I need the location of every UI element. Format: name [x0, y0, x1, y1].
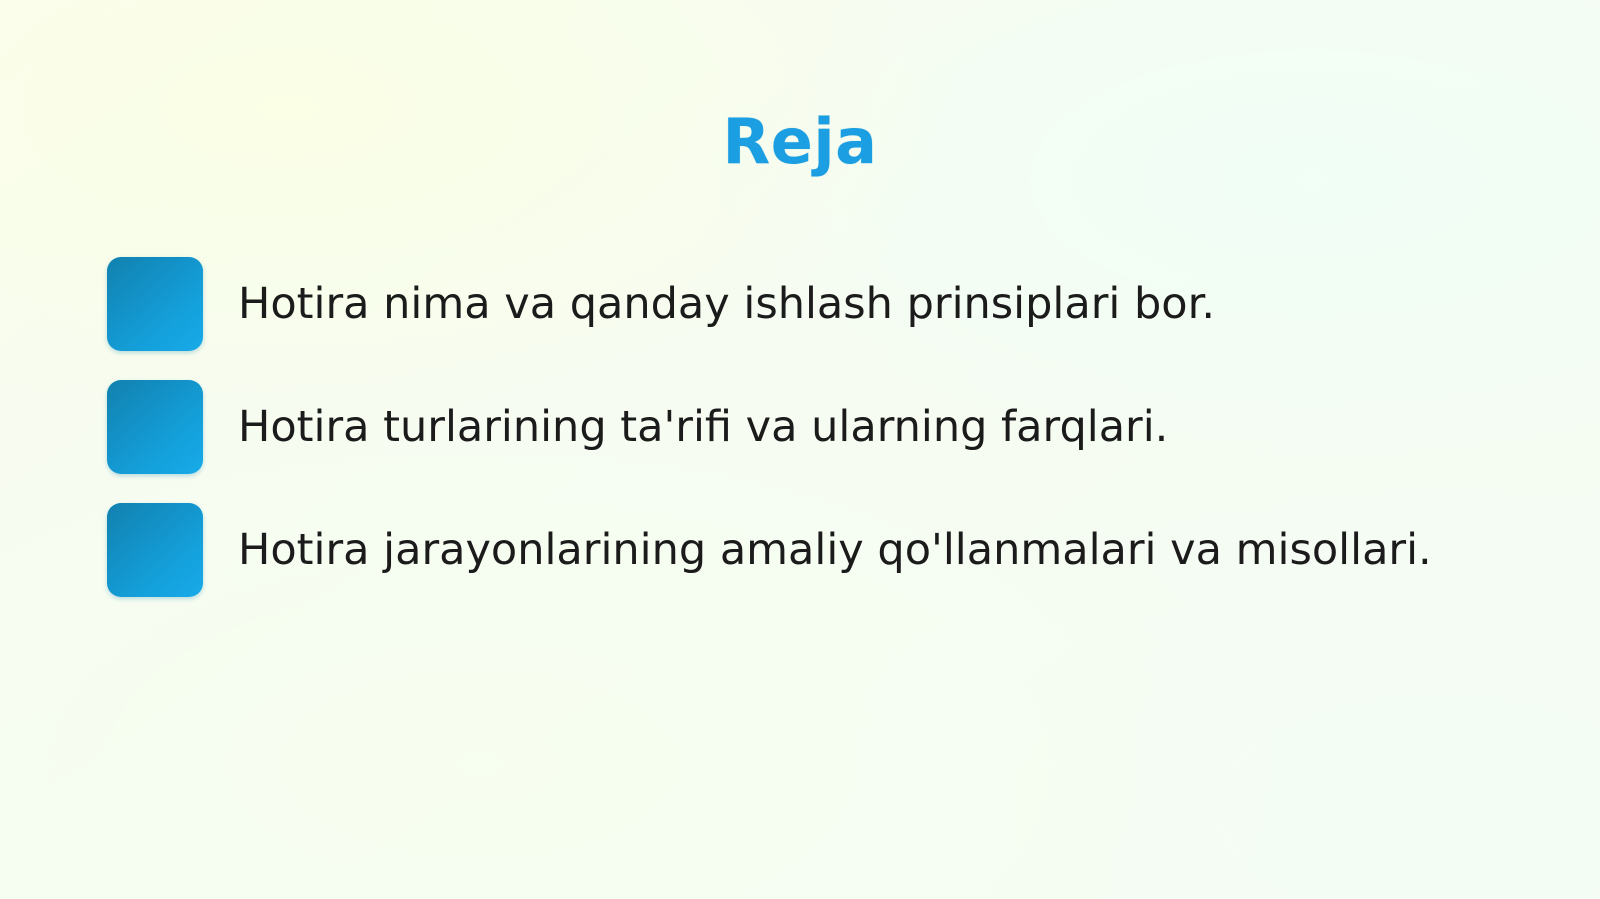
presentation-slide: Reja Hotira nima va qanday ishlash prins…: [0, 0, 1600, 899]
list-item: Hotira jarayonlarining amaliy qo'llanmal…: [107, 503, 1527, 597]
list-item-label: Hotira jarayonlarining amaliy qo'llanmal…: [238, 503, 1527, 597]
list-item-label: Hotira turlarining ta'rifi va ularning f…: [238, 380, 1527, 474]
bullet-square-icon: [107, 257, 203, 351]
bullet-square-icon: [107, 503, 203, 597]
list-item-label: Hotira nima va qanday ishlash prinsiplar…: [238, 257, 1527, 351]
page-title: Reja: [0, 108, 1600, 176]
list-item: Hotira nima va qanday ishlash prinsiplar…: [107, 257, 1527, 351]
bullet-list: Hotira nima va qanday ishlash prinsiplar…: [107, 257, 1527, 626]
list-item: Hotira turlarining ta'rifi va ularning f…: [107, 380, 1527, 474]
bullet-square-icon: [107, 380, 203, 474]
